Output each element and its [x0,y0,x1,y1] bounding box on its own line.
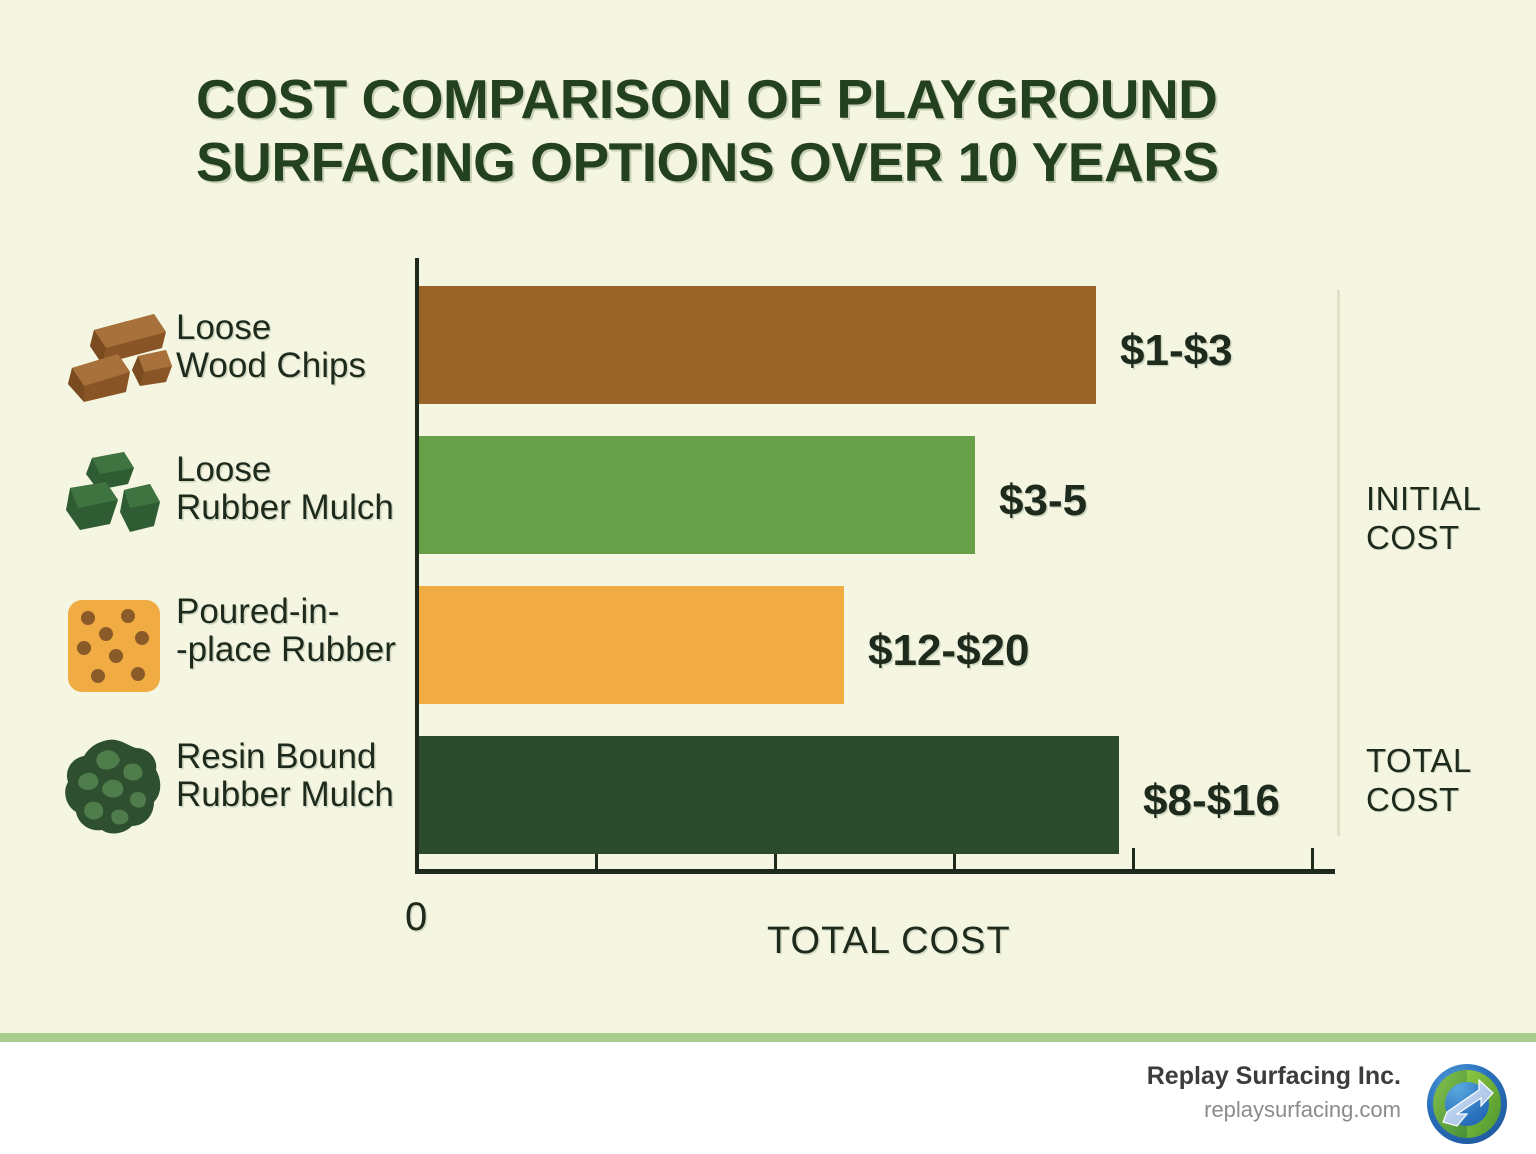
x-tick-16 [1132,848,1135,870]
bar-wood-chips[interactable] [419,286,1096,404]
bar-value-loose-rubber-mulch: $3-5 [999,476,1087,526]
bar-poured-in-place[interactable] [419,586,844,704]
bar-label-loose-rubber-mulch: Loose Rubber Mulch [176,451,394,527]
annotation-initial-cost: INITIAL COST [1366,480,1481,558]
right-axis-divider [1337,290,1340,836]
footer: Replay Surfacing Inc. replaysurfacing.co… [0,1042,1536,1154]
annotation-total-cost: TOTAL COST [1366,742,1472,820]
footer-divider [0,1033,1536,1042]
x-axis-zero-label: 0 [405,895,427,940]
x-axis-line [415,869,1335,874]
bar-label-line2: Rubber Mulch [176,488,394,527]
bar-label-resin-bound: Resin Bound Rubber Mulch [176,738,394,814]
chart-panel: COST COMPARISON OF PLAYGROUND SURFACING … [0,0,1536,1033]
bar-value-wood-chips: $1-$3 [1120,326,1233,376]
recycle-circle-logo-icon [1423,1060,1511,1148]
bar-label-line2: Rubber Mulch [176,775,394,814]
bar-label-line1: Poured-in- [176,592,339,631]
footer-website-url[interactable]: replaysurfacing.com [1147,1097,1401,1123]
wood-chips-icon [62,292,172,402]
bar-label-line2: -place Rubber [176,630,396,669]
resin-bound-icon [58,736,168,846]
infographic-root: COST COMPARISON OF PLAYGROUND SURFACING … [0,0,1536,1154]
bar-loose-rubber-mulch[interactable] [419,436,975,554]
footer-company-name: Replay Surfacing Inc. [1147,1062,1401,1091]
page-title: COST COMPARISON OF PLAYGROUND SURFACING … [196,68,1406,193]
bar-label-wood-chips: Loose Wood Chips [176,309,366,385]
annotation-initial-cost-line1: INITIAL [1366,480,1481,517]
bar-resin-bound[interactable] [419,736,1119,854]
rubber-mulch-icon [62,442,172,552]
bar-label-line1: Loose [176,308,271,347]
poured-rubber-icon [62,592,172,702]
bar-label-poured-in-place: Poured-in- -place Rubber [176,593,396,669]
bar-value-resin-bound: $8-$16 [1143,776,1280,826]
annotation-initial-cost-line2: COST [1366,519,1460,556]
footer-text-block: Replay Surfacing Inc. replaysurfacing.co… [1147,1062,1401,1123]
bar-label-line1: Resin Bound [176,737,376,776]
bar-value-poured-in-place: $12-$20 [868,626,1029,676]
x-axis-title: TOTAL COST [767,920,1011,963]
x-tick-20 [1311,848,1314,870]
annotation-total-cost-line1: TOTAL [1366,742,1472,779]
bar-label-line2: Wood Chips [176,346,366,385]
annotation-total-cost-line2: COST [1366,781,1460,818]
bar-label-line1: Loose [176,450,271,489]
plot-area: $1-$3 $3-5 $12-$20 $8-$16 [415,258,1335,873]
